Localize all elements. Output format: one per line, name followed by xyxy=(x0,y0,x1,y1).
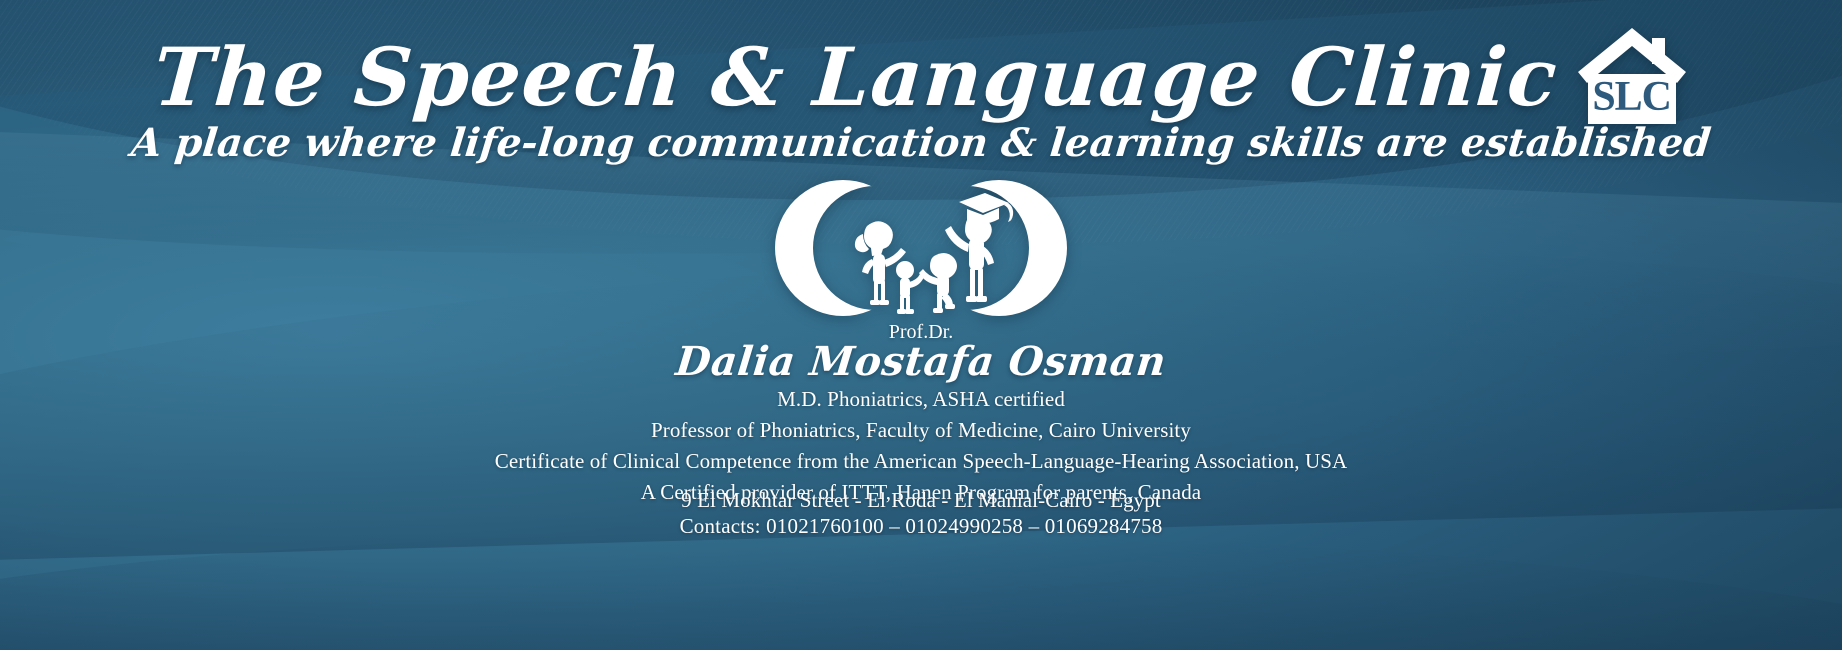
house-icon: SLC xyxy=(1576,26,1688,124)
credential-line: Certificate of Clinical Competence from … xyxy=(0,446,1842,477)
credential-line: M.D. Phoniatrics, ASHA certified xyxy=(0,384,1842,415)
doctor-name: Dalia Mostafa Osman xyxy=(0,338,1842,386)
clinic-phones: Contacts: 01021760100 – 01024990258 – 01… xyxy=(0,513,1842,539)
banner-content: The Speech & Language Clinic SLC A place… xyxy=(0,0,1842,650)
title-row: The Speech & Language Clinic SLC xyxy=(0,26,1842,128)
contact-block: 9 El Mokhtar Street - El Roda - El Mania… xyxy=(0,487,1842,539)
clinic-title: The Speech & Language Clinic xyxy=(152,37,1561,117)
clinic-banner: The Speech & Language Clinic SLC A place… xyxy=(0,0,1842,650)
credential-line: Professor of Phoniatrics, Faculty of Med… xyxy=(0,415,1842,446)
slc-monogram: SLC xyxy=(1576,76,1688,118)
clinic-emblem xyxy=(771,176,1071,316)
clinic-tagline: A place where life-long communication & … xyxy=(0,120,1842,167)
clinic-address: 9 El Mokhtar Street - El Roda - El Mania… xyxy=(0,487,1842,513)
